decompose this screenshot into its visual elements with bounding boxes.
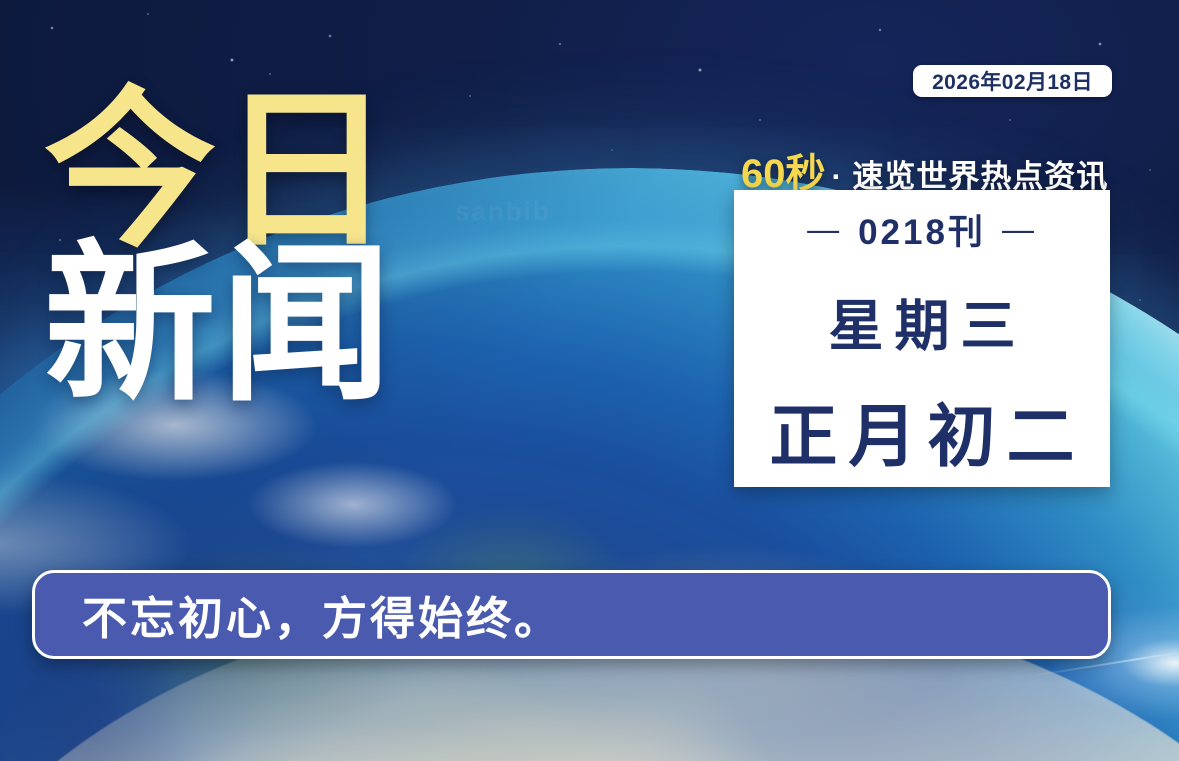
issue-dash-right: — [1002,211,1037,248]
page-title: 今日 新闻 [44,92,396,406]
info-card: — 0218刊 — 星期三 正月初二 [734,190,1110,487]
date-badge: 2026年02月18日 [913,65,1112,97]
motto-text: 不忘初心，方得始终。 [82,582,562,647]
issue-number: 0218刊 [858,204,986,255]
news-poster: sanbib 今日 新闻 2026年02月18日 60秒 · 速览世界热点资讯 … [0,0,1179,761]
page-title-line1: 今日 [44,92,396,252]
lunar-date-label: 正月初二 [758,381,1085,480]
motto-banner: 不忘初心，方得始终。 [32,570,1111,659]
background-watermark: sanbib [455,196,551,227]
issue-number-row: — 0218刊 — [807,204,1037,255]
page-title-line2: 新闻 [44,246,396,406]
weekday-label: 星期三 [817,281,1026,361]
issue-dash-left: — [807,211,842,248]
